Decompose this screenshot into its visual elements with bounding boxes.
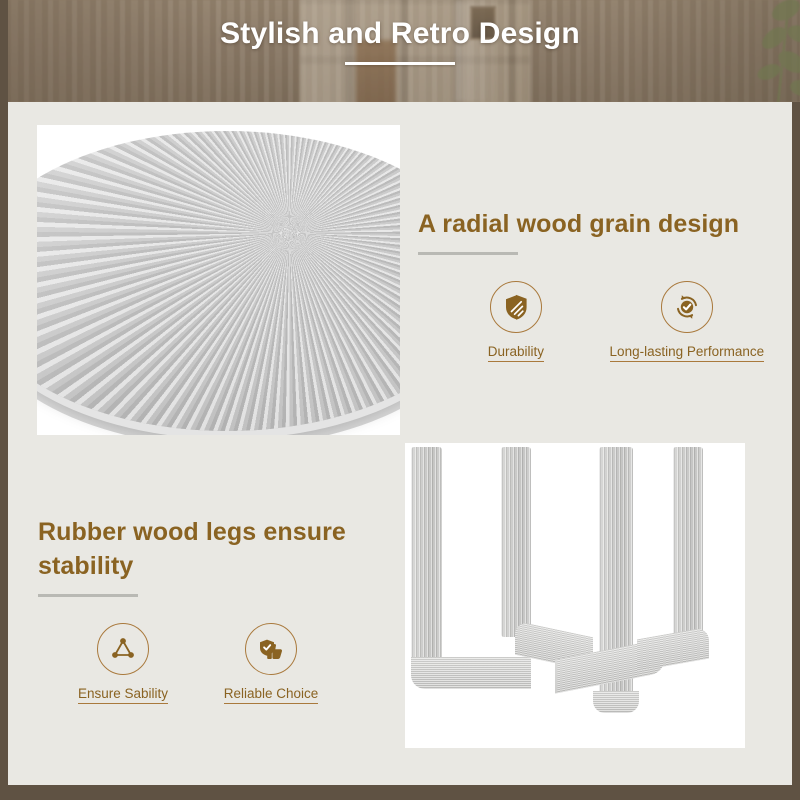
section-heading-legs-line2: stability bbox=[38, 549, 403, 583]
heading-divider bbox=[418, 252, 518, 255]
product-infographic: Stylish and Retro Design A radial wood g… bbox=[0, 0, 800, 800]
refresh-check-icon bbox=[672, 292, 702, 322]
feature-durability[interactable]: Durability bbox=[458, 281, 574, 362]
frame-border-bottom bbox=[0, 785, 800, 800]
table-leg-1 bbox=[411, 447, 442, 665]
feature-label: Reliable Choice bbox=[224, 686, 319, 704]
feature-reliable-choice[interactable]: Reliable Choice bbox=[206, 623, 336, 704]
title-divider bbox=[345, 62, 455, 65]
page-title: Stylish and Retro Design bbox=[0, 17, 800, 51]
shield-icon bbox=[502, 293, 530, 321]
table-leg-4 bbox=[673, 447, 703, 641]
hero-banner: Stylish and Retro Design bbox=[0, 0, 800, 102]
feature-ensure-stability[interactable]: Ensure Sability bbox=[58, 623, 188, 704]
feature-icon-frame bbox=[661, 281, 713, 333]
tabletop-photo bbox=[37, 125, 400, 435]
feature-icon-frame bbox=[245, 623, 297, 675]
feature-list-wood-grain: Durability Long-lasting Performance bbox=[418, 281, 780, 362]
section-wood-grain: A radial wood grain design Durability bbox=[418, 207, 780, 362]
table-legs-photo bbox=[405, 443, 745, 748]
feature-long-lasting-performance[interactable]: Long-lasting Performance bbox=[594, 281, 780, 362]
feature-label: Long-lasting Performance bbox=[610, 344, 765, 362]
shield-thumbs-up-icon bbox=[256, 634, 286, 664]
frame-border-right bbox=[792, 102, 800, 800]
hero-overlay bbox=[0, 0, 800, 102]
feature-list-legs: Ensure Sability Reliable Choice bbox=[38, 623, 403, 704]
stretcher-right bbox=[637, 627, 709, 672]
triangle-nodes-icon bbox=[108, 634, 138, 664]
frame-border-left bbox=[0, 0, 8, 800]
feature-label: Ensure Sability bbox=[78, 686, 168, 704]
feature-icon-frame bbox=[490, 281, 542, 333]
feature-icon-frame bbox=[97, 623, 149, 675]
section-heading-wood-grain: A radial wood grain design bbox=[418, 207, 780, 241]
heading-divider bbox=[38, 594, 138, 597]
section-rubber-wood-legs: Rubber wood legs ensure stability Ensure… bbox=[38, 515, 403, 704]
feature-label: Durability bbox=[488, 344, 544, 362]
table-leg-2 bbox=[501, 447, 531, 637]
leg-3-foot bbox=[593, 691, 639, 713]
tabletop-sheen bbox=[37, 131, 400, 431]
table-leg-1-foot bbox=[411, 657, 531, 689]
section-heading-legs-line1: Rubber wood legs ensure bbox=[38, 515, 403, 549]
